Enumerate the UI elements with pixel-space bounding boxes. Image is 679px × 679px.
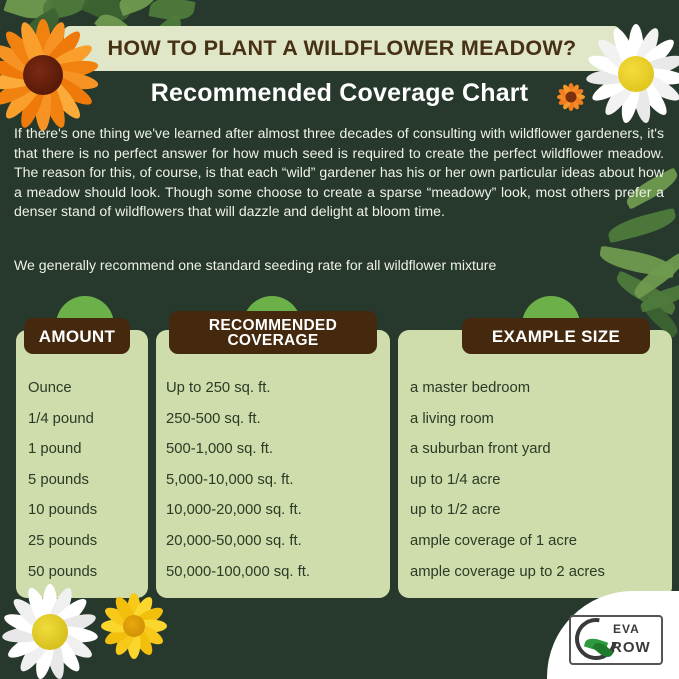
white-daisy-flower-top [580, 18, 679, 130]
flower-center [123, 615, 145, 637]
logo-text-eva: EVA [613, 622, 640, 636]
recommendation-paragraph: We generally recommend one standard seed… [14, 256, 664, 276]
intro-paragraph: If there's one thing we've learned after… [14, 124, 664, 222]
infographic-page: HOW TO PLANT A WILDFLOWER MEADOW? Recomm… [0, 0, 679, 679]
table-cell: 5,000-10,000 sq. ft. [166, 465, 388, 496]
table-cell: Ounce [28, 373, 144, 404]
table-cell: Up to 250 sq. ft. [166, 373, 388, 404]
flower-center [23, 55, 63, 95]
table-cell: 250-500 sq. ft. [166, 404, 388, 435]
subtitle-text: Recommended Coverage Chart [151, 79, 529, 108]
page-title: HOW TO PLANT A WILDFLOWER MEADOW? [64, 26, 620, 71]
table-cell: up to 1/2 acre [410, 495, 668, 526]
column-header-recommended-coverage: RECOMMENDED COVERAGE [169, 311, 377, 354]
amount-column-cells: Ounce 1/4 pound 1 pound 5 pounds 10 poun… [28, 373, 144, 587]
table-cell: 25 pounds [28, 526, 144, 557]
table-cell: a living room [410, 404, 668, 435]
orange-calendula-flower [0, 14, 104, 136]
table-cell: 1 pound [28, 434, 144, 465]
logo-corner-backdrop: EVA ROW [547, 591, 679, 679]
column-header-amount: AMOUNT [24, 318, 130, 354]
eva-grow-logo[interactable]: EVA ROW [569, 615, 663, 665]
column-header-amount-label: AMOUNT [39, 329, 115, 344]
coverage-column-cells: Up to 250 sq. ft. 250-500 sq. ft. 500-1,… [166, 373, 388, 587]
table-cell: a suburban front yard [410, 434, 668, 465]
table-cell: 10 pounds [28, 495, 144, 526]
table-cell: up to 1/4 acre [410, 465, 668, 496]
flower-center [618, 56, 654, 92]
table-cell: ample coverage of 1 acre [410, 526, 668, 557]
table-cell: 20,000-50,000 sq. ft. [166, 526, 388, 557]
example-size-column-cells: a master bedroom a living room a suburba… [410, 373, 668, 587]
column-header-coverage-line1: RECOMMENDED [209, 318, 337, 333]
table-cell: ample coverage up to 2 acres [410, 557, 668, 588]
yellow-coreopsis-flower [96, 588, 172, 664]
table-cell: 10,000-20,000 sq. ft. [166, 495, 388, 526]
flower-center [566, 92, 577, 103]
white-daisy-flower-bottom [0, 578, 104, 679]
table-cell: 500-1,000 sq. ft. [166, 434, 388, 465]
table-cell: 1/4 pound [28, 404, 144, 435]
flower-center [32, 614, 68, 650]
column-header-example-size-label: EXAMPLE SIZE [492, 329, 620, 344]
column-header-example-size: EXAMPLE SIZE [462, 318, 650, 354]
table-cell: 5 pounds [28, 465, 144, 496]
table-cell: 50,000-100,000 sq. ft. [166, 557, 388, 588]
table-cell: a master bedroom [410, 373, 668, 404]
logo-text-row: ROW [611, 639, 651, 656]
column-header-coverage-line2: COVERAGE [227, 333, 318, 348]
